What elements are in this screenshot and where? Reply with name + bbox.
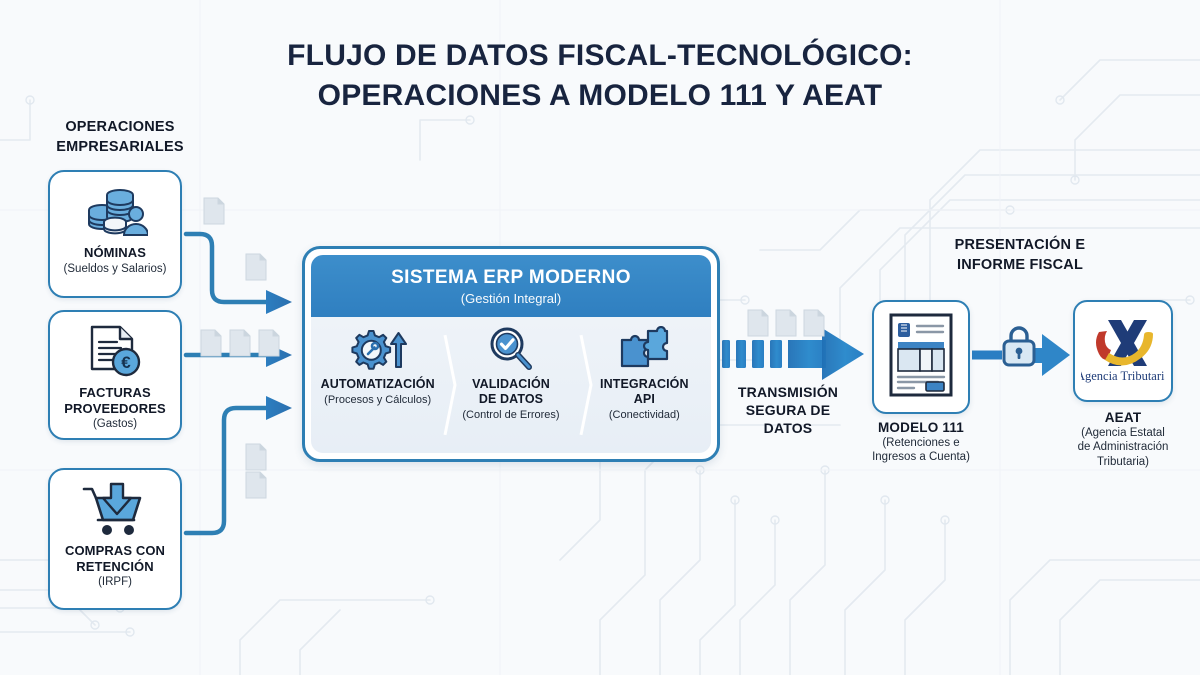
erp-title: SISTEMA ERP MODERNO (317, 267, 705, 289)
modelo-111-label: MODELO 111 (840, 420, 1002, 435)
arrowhead-compras (266, 396, 292, 420)
modelo-111-sub: (Retenciones e Ingresos a Cuenta) (840, 436, 1002, 465)
presentation-caption: PRESENTACIÓN E INFORME FISCAL (912, 236, 1128, 275)
padlock-icon (1004, 328, 1034, 365)
transmission-caption: TRANSMISIÓN SEGURA DE DATOS (724, 383, 852, 438)
source-label-nominas: NÓMINAS (84, 245, 146, 261)
arrowhead-nominas (266, 290, 292, 314)
arrowhead-facturas (266, 343, 292, 367)
title-line-2: OPERACIONES A MODELO 111 Y AEAT (180, 76, 1020, 116)
erp-column-validacion[interactable]: VALIDACIÓN DE DATOS (Control de Errores) (444, 317, 577, 453)
operations-caption: OPERACIONES EMPRESARIALES (22, 118, 218, 157)
aeat-label: AEAT (1038, 410, 1200, 425)
svg-text:Agencia Tributaria: Agencia Tributaria (1081, 369, 1165, 383)
puzzle-pieces-icon (618, 326, 670, 372)
diagram-canvas: FLUJO DE DATOS FISCAL-TECNOLÓGICO: OPERA… (0, 0, 1200, 675)
source-box-facturas[interactable]: € FACTURAS PROVEEDORES (Gastos) (48, 310, 182, 440)
modelo-111-box[interactable] (872, 300, 970, 414)
erp-panel-header: SISTEMA ERP MODERNO (Gestión Integral) (311, 255, 711, 317)
form-emblem (898, 323, 910, 337)
source-box-compras[interactable]: COMPRAS CON RETENCIÓN (IRPF) (48, 468, 182, 610)
source-label-facturas: FACTURAS PROVEEDORES (64, 385, 166, 416)
page-title: FLUJO DE DATOS FISCAL-TECNOLÓGICO: OPERA… (180, 36, 1020, 115)
erp-col-title-validacion: VALIDACIÓN DE DATOS (472, 377, 550, 407)
transmission-dashes (722, 340, 782, 368)
transmission-arrow (788, 328, 864, 380)
erp-col-title-automatizacion: AUTOMATIZACIÓN (321, 377, 435, 392)
svg-text:€: € (121, 353, 131, 372)
erp-column-integracion[interactable]: INTEGRACIÓN API (Conectividad) (578, 317, 711, 453)
erp-panel[interactable]: SISTEMA ERP MODERNO (Gestión Integral) (302, 246, 720, 462)
aeat-box[interactable]: Agencia Tributaria (1073, 300, 1173, 402)
erp-subtitle: (Gestión Integral) (317, 291, 705, 306)
aeat-label-group: AEAT (Agencia Estatal de Administración … (1038, 410, 1200, 469)
aeat-sub: (Agencia Estatal de Administración Tribu… (1038, 426, 1200, 469)
source-box-nominas[interactable]: NÓMINAS (Sueldos y Salarios) (48, 170, 182, 298)
aeat-logo-icon: Agencia Tributaria (1081, 310, 1165, 393)
erp-col-sub-automatizacion: (Procesos y Cálculos) (324, 394, 431, 407)
source-sub-nominas: (Sueldos y Salarios) (64, 263, 167, 277)
tax-form-document-icon (888, 312, 954, 403)
erp-column-automatizacion[interactable]: AUTOMATIZACIÓN (Procesos y Cálculos) (311, 317, 444, 453)
wire-compras (186, 408, 268, 533)
coins-person-icon (82, 183, 148, 241)
source-sub-facturas: (Gastos) (93, 418, 137, 432)
erp-col-sub-validacion: (Control de Errores) (462, 409, 559, 422)
arrow-m111-aeat (1034, 334, 1070, 376)
invoice-euro-icon: € (86, 323, 144, 381)
title-line-1: FLUJO DE DATOS FISCAL-TECNOLÓGICO: (287, 39, 913, 72)
modelo-111-label-group: MODELO 111 (Retenciones e Ingresos a Cue… (840, 420, 1002, 465)
erp-col-sub-integracion: (Conectividad) (609, 409, 680, 422)
source-sub-compras: (IRPF) (98, 576, 132, 590)
erp-col-title-integracion: INTEGRACIÓN API (600, 377, 689, 407)
wire-nominas (186, 234, 268, 302)
gear-wrench-arrow-icon (349, 326, 407, 372)
magnifier-check-icon (486, 326, 536, 372)
source-label-compras: COMPRAS CON RETENCIÓN (65, 543, 165, 574)
cart-download-icon (80, 481, 150, 539)
